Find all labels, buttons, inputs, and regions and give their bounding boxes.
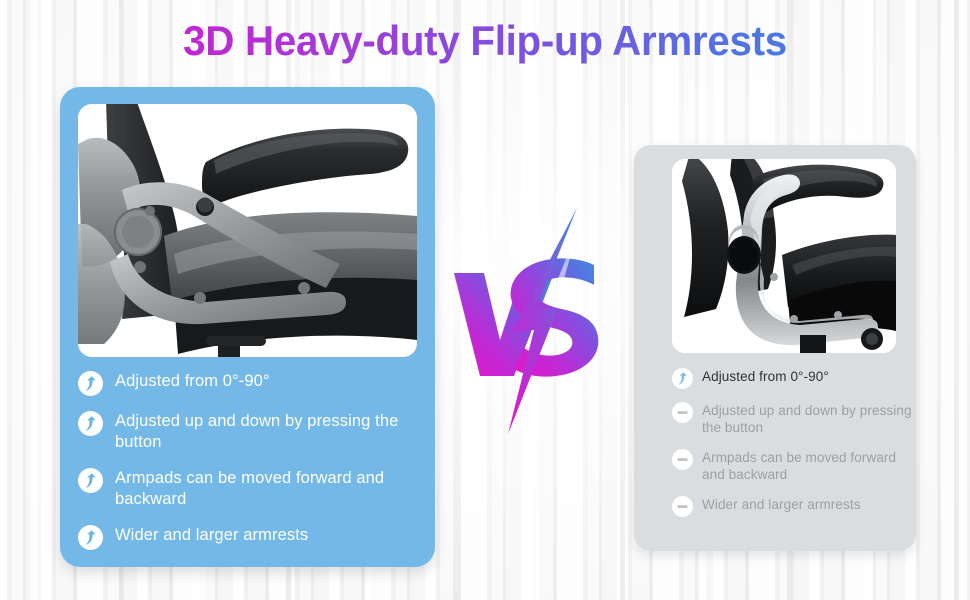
list-item-label: Wider and larger armrests [115,524,308,546]
infographic-canvas: 3D Heavy-duty Flip-up Armrests [0,0,970,600]
list-item-label: Adjusted up and down by pressing the but… [702,401,912,436]
minus-icon [672,402,693,423]
list-item: Armpads can be moved forward and backwar… [672,448,912,483]
left-product-photo-card [78,104,417,357]
list-item: Adjusted up and down by pressing the but… [672,401,912,436]
flip-up-arrow-icon [78,411,103,436]
flip-up-arrow-icon [78,371,103,396]
list-item-label: Adjusted up and down by pressing the but… [115,410,430,453]
flip-up-arrow-icon [672,368,693,389]
minus-icon [672,496,693,517]
list-item: Armpads can be moved forward and backwar… [78,467,430,510]
right-chair-photo [672,159,896,353]
list-item-label: Armpads can be moved forward and backwar… [702,448,912,483]
versus-badge [448,190,623,440]
minus-icon [672,449,693,470]
list-item-label: Armpads can be moved forward and backwar… [115,467,430,510]
left-chair-photo [78,104,417,357]
list-item: Wider and larger armrests [78,524,430,550]
list-item-label: Adjusted from 0°-90° [702,367,829,385]
list-item: Adjusted from 0°-90° [672,367,912,389]
comparison-panel-left: Adjusted from 0°-90° Adjusted up and dow… [60,87,435,567]
list-item-label: Adjusted from 0°-90° [115,370,270,392]
list-item-label: Wider and larger armrests [702,495,861,513]
left-feature-list: Adjusted from 0°-90° Adjusted up and dow… [78,370,430,550]
page-title: 3D Heavy-duty Flip-up Armrests [19,16,950,66]
comparison-panel-right: Adjusted from 0°-90° Adjusted up and dow… [634,145,916,551]
flip-up-arrow-icon [78,525,103,550]
right-feature-list: Adjusted from 0°-90° Adjusted up and dow… [672,367,912,529]
versus-logo-icon [448,190,623,440]
list-item: Wider and larger armrests [672,495,912,517]
flip-up-arrow-icon [78,468,103,493]
right-product-photo-card [672,159,896,353]
list-item: Adjusted from 0°-90° [78,370,430,396]
list-item: Adjusted up and down by pressing the but… [78,410,430,453]
